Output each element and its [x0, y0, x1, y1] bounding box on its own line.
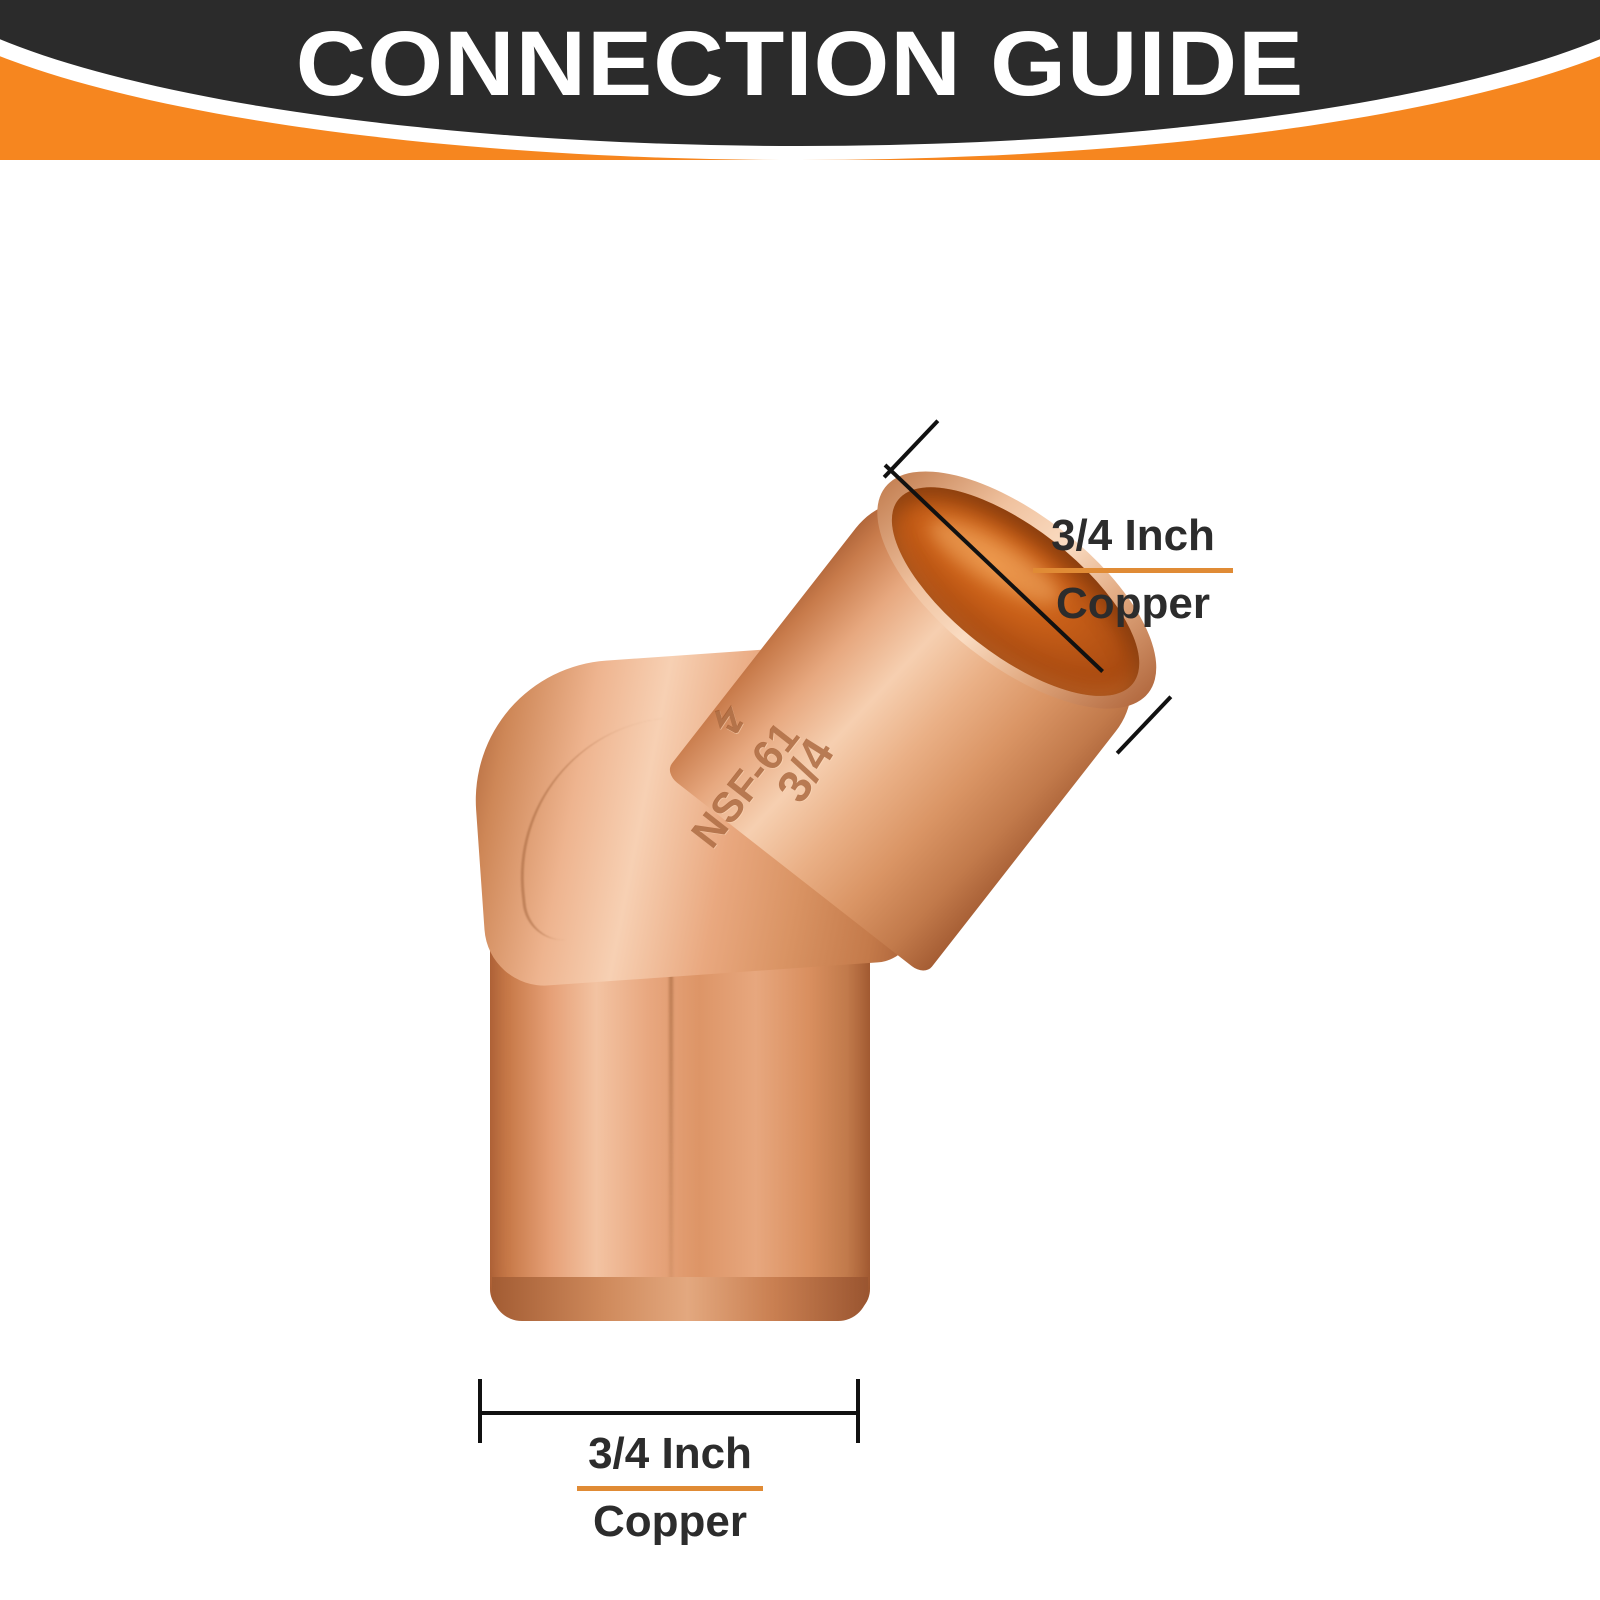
callout-upper-socket: 3/4 Inch Copper	[1028, 509, 1238, 631]
product-infographic: CONNECTION GUIDE ↯ 3/4 NSF-61	[0, 0, 1600, 1600]
callout-divider	[1033, 568, 1233, 573]
product-stage: ↯ 3/4 NSF-61 3/4 Inch Copper 3/4 Inch Co…	[0, 175, 1600, 1400]
page-title: CONNECTION GUIDE	[0, 16, 1600, 112]
lower-socket-seam	[669, 925, 673, 1305]
lower-socket-bottom-edge	[492, 1277, 868, 1321]
callout-size-label: 3/4 Inch	[1028, 509, 1238, 563]
header-banner: CONNECTION GUIDE	[0, 0, 1600, 172]
copper-elbow-fitting: ↯ 3/4 NSF-61	[455, 325, 1095, 1385]
callout-material-label: Copper	[1028, 577, 1238, 631]
footer-banner: Works on Type M,L or K Copper Tubing	[0, 1400, 1600, 1600]
